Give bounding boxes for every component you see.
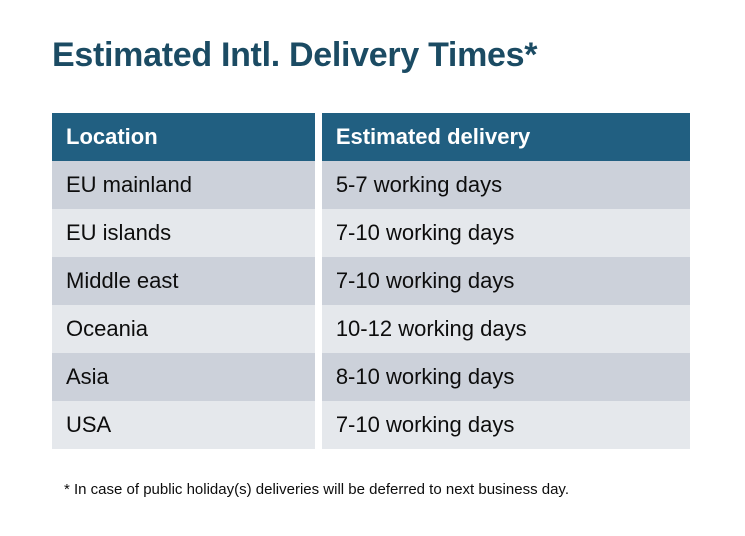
cell-location: Oceania bbox=[52, 305, 322, 353]
column-header-estimated-delivery: Estimated delivery bbox=[322, 113, 690, 161]
cell-estimated-delivery: 7-10 working days bbox=[322, 401, 690, 449]
cell-location: EU islands bbox=[52, 209, 322, 257]
cell-location: USA bbox=[52, 401, 322, 449]
estimated-delivery-times-table: Location Estimated delivery EU mainland … bbox=[52, 113, 690, 449]
cell-location: EU mainland bbox=[52, 161, 322, 209]
table-header: Location Estimated delivery bbox=[52, 113, 690, 161]
cell-estimated-delivery: 7-10 working days bbox=[322, 257, 690, 305]
table-row: USA 7-10 working days bbox=[52, 401, 690, 449]
table-row: Oceania 10-12 working days bbox=[52, 305, 690, 353]
cell-estimated-delivery: 8-10 working days bbox=[322, 353, 690, 401]
page-title: Estimated Intl. Delivery Times* bbox=[52, 36, 537, 75]
table-row: Middle east 7-10 working days bbox=[52, 257, 690, 305]
cell-estimated-delivery: 7-10 working days bbox=[322, 209, 690, 257]
footnote: * In case of public holiday(s) deliverie… bbox=[64, 481, 569, 498]
table-row: EU islands 7-10 working days bbox=[52, 209, 690, 257]
cell-location: Asia bbox=[52, 353, 322, 401]
table-row: EU mainland 5-7 working days bbox=[52, 161, 690, 209]
cell-estimated-delivery: 5-7 working days bbox=[322, 161, 690, 209]
table-header-row: Location Estimated delivery bbox=[52, 113, 690, 161]
cell-location: Middle east bbox=[52, 257, 322, 305]
table-row: Asia 8-10 working days bbox=[52, 353, 690, 401]
delivery-times-page: Estimated Intl. Delivery Times* Location… bbox=[0, 0, 745, 536]
table-body: EU mainland 5-7 working days EU islands … bbox=[52, 161, 690, 449]
cell-estimated-delivery: 10-12 working days bbox=[322, 305, 690, 353]
column-header-location: Location bbox=[52, 113, 322, 161]
